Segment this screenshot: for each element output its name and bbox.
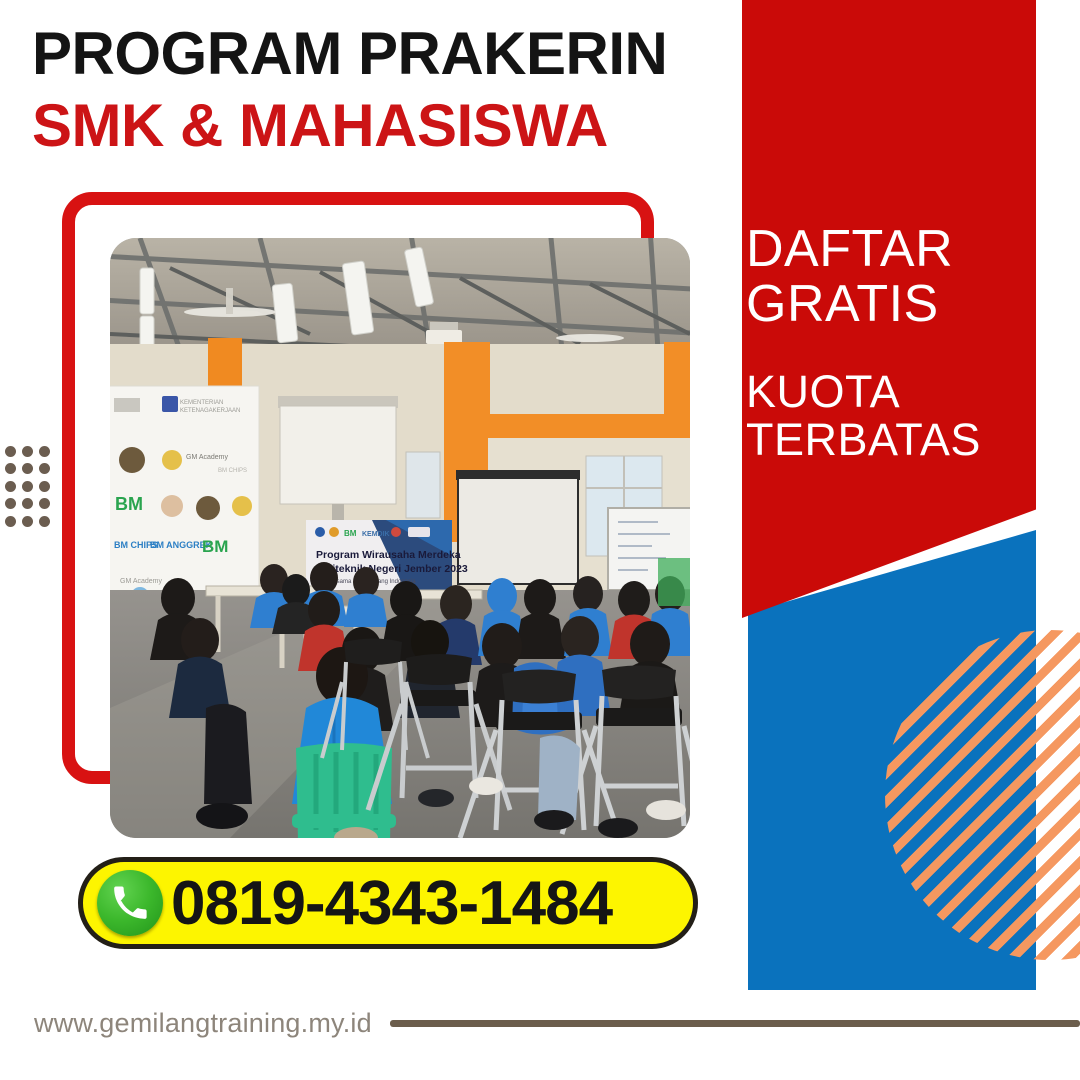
footer-divider-rule: [390, 1020, 1080, 1027]
phone-handset-icon: [97, 870, 163, 936]
dot: [39, 481, 50, 492]
phone-cta-pill[interactable]: 0819-4343-1484: [78, 857, 698, 949]
svg-text:GM Academy: GM Academy: [120, 578, 163, 585]
svg-text:BM: BM: [202, 537, 228, 556]
svg-text:KEMENTERIAN: KEMENTERIAN: [180, 400, 223, 406]
poster-canvas: DAFTAR GRATIS KUOTA TERBATAS PROGRAM PRA…: [0, 0, 1080, 1080]
website-url[interactable]: www.gemilangtraining.my.id: [34, 1008, 372, 1039]
decor-dot-grid: [5, 446, 51, 528]
svg-text:BM: BM: [344, 529, 357, 538]
svg-text:KETENAGAKERJAAN: KETENAGAKERJAAN: [180, 408, 240, 414]
callout-spacer: [746, 332, 1046, 368]
dot: [22, 446, 33, 457]
dot: [39, 446, 50, 457]
dot: [5, 481, 16, 492]
dot: [39, 498, 50, 509]
dot: [22, 463, 33, 474]
dot: [5, 446, 16, 457]
training-photo-illustration: KEMENTERIAN KETENAGAKERJAAN GM Academy B…: [110, 238, 690, 838]
dot: [22, 516, 33, 527]
footer-bar: www.gemilangtraining.my.id: [0, 998, 1080, 1048]
callout-line-terbatas: TERBATAS: [746, 416, 1046, 464]
svg-text:BM CHIPS: BM CHIPS: [218, 468, 247, 474]
callout-text-block: DAFTAR GRATIS KUOTA TERBATAS: [746, 222, 1046, 464]
headline-line-2: SMK & MAHASISWA: [32, 94, 667, 158]
callout-line-gratis: GRATIS: [746, 277, 1046, 332]
dot: [5, 498, 16, 509]
svg-text:Politeknik Negeri Jember 2023: Politeknik Negeri Jember 2023: [316, 563, 468, 575]
svg-text:Program Wirausaha Merdeka: Program Wirausaha Merdeka: [316, 549, 461, 561]
page-title: PROGRAM PRAKERIN SMK & MAHASISWA: [32, 22, 667, 157]
dot: [5, 463, 16, 474]
dot: [5, 516, 16, 527]
svg-text:KEMDIK: KEMDIK: [362, 531, 390, 538]
callout-line-daftar: DAFTAR: [746, 222, 1046, 277]
dot: [22, 498, 33, 509]
svg-text:GM Academy: GM Academy: [186, 454, 229, 461]
phone-number-text: 0819-4343-1484: [171, 868, 612, 939]
dot: [39, 516, 50, 527]
callout-line-kuota: KUOTA: [746, 368, 1046, 416]
svg-text:BM: BM: [115, 494, 143, 514]
dot: [39, 463, 50, 474]
training-photo: KEMENTERIAN KETENAGAKERJAAN GM Academy B…: [110, 238, 690, 838]
dot: [22, 481, 33, 492]
headline-line-1: PROGRAM PRAKERIN: [32, 22, 667, 86]
